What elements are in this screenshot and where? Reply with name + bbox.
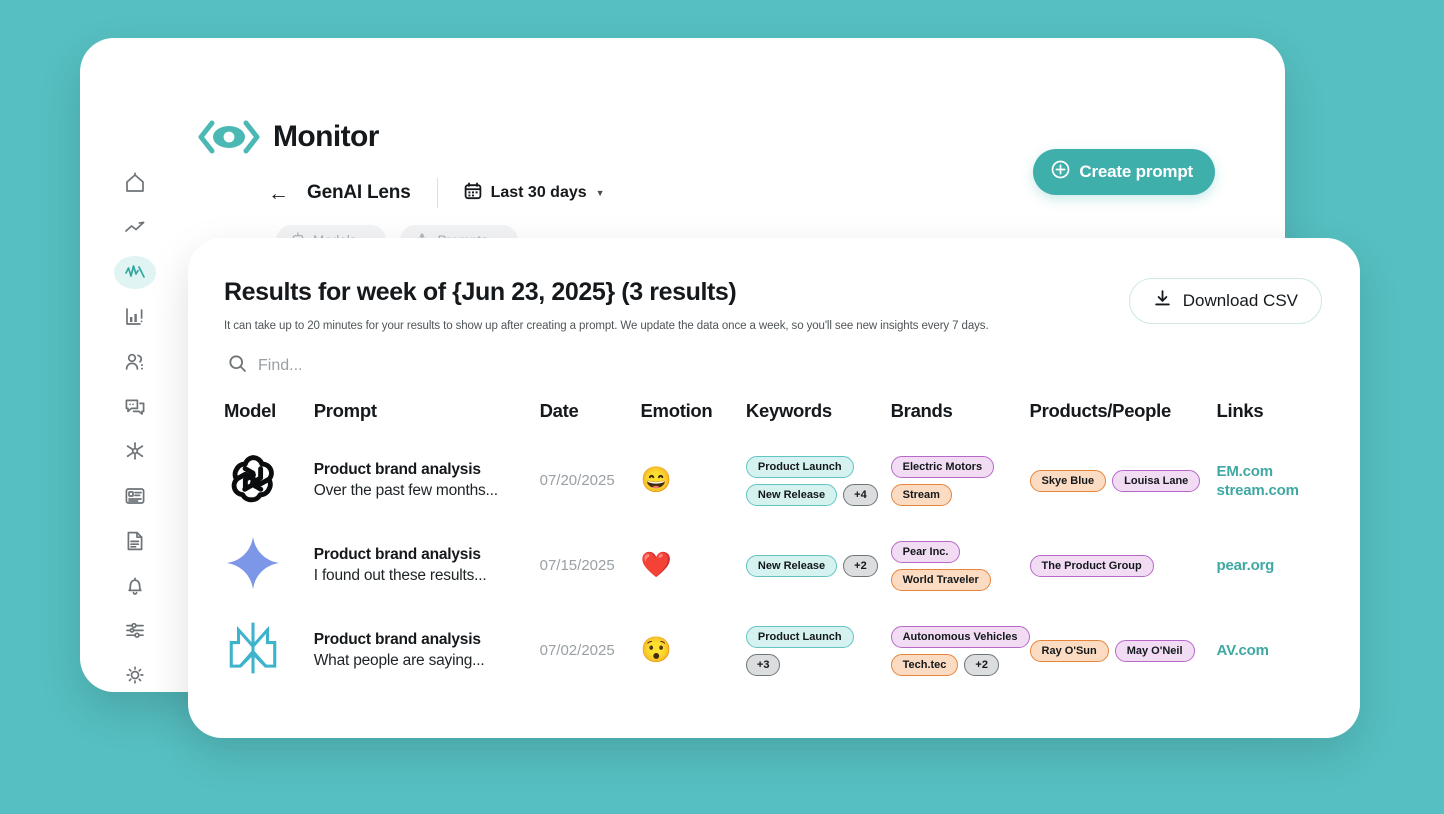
- brand-name: Monitor: [273, 120, 379, 154]
- brands-tag[interactable]: Autonomous Vehicles: [891, 626, 1030, 648]
- date-range-picker[interactable]: Last 30 days ▼: [464, 182, 605, 205]
- brands-tags: Pear Inc.World Traveler: [891, 541, 1030, 591]
- column-header-date: Date: [540, 392, 641, 438]
- plus-circle-icon: [1051, 160, 1070, 184]
- grinning-face-emoji: 😄: [641, 466, 672, 494]
- column-header-products-people: Products/People: [1030, 392, 1217, 438]
- more-count-chip[interactable]: +2: [964, 654, 999, 676]
- prompt-cell: Product brand analysisOver the past few …: [314, 438, 540, 523]
- results-subtitle: It can take up to 20 minutes for your re…: [224, 320, 989, 332]
- date-cell: 07/15/2025: [540, 523, 641, 608]
- model-cell: [224, 608, 314, 693]
- brands-tags: Autonomous VehiclesTech.tec+2: [891, 626, 1030, 676]
- sidebar-item-settings-sliders[interactable]: [114, 614, 156, 648]
- products-tag[interactable]: Skye Blue: [1030, 470, 1107, 492]
- column-header-links: Links: [1217, 392, 1322, 438]
- back-arrow-icon[interactable]: ←: [268, 183, 289, 204]
- keywords-cell: Product Launch+3: [746, 608, 891, 693]
- sidebar-item-audience[interactable]: [114, 345, 156, 379]
- column-header-model: Model: [224, 392, 314, 438]
- products-tag[interactable]: Ray O'Sun: [1030, 640, 1109, 662]
- keywords-tags: Product Launch+3: [746, 626, 891, 676]
- prompt-snippet: What people are saying...: [314, 652, 540, 670]
- prompt-snippet: I found out these results...: [314, 567, 540, 585]
- results-header: Results for week of {Jun 23, 2025} (3 re…: [224, 278, 1322, 332]
- emotion-cell: 😄: [641, 438, 746, 523]
- date-cell: 07/02/2025: [540, 608, 641, 693]
- prompt-cell: Product brand analysisWhat people are sa…: [314, 608, 540, 693]
- download-csv-button[interactable]: Download CSV: [1129, 278, 1322, 324]
- red-heart-emoji: ❤️: [641, 551, 672, 579]
- products-tags: Skye BlueLouisa Lane: [1030, 470, 1217, 492]
- products-tags: The Product Group: [1030, 555, 1217, 577]
- table-row[interactable]: Product brand analysisWhat people are sa…: [224, 608, 1322, 693]
- brands-tag[interactable]: Tech.tec: [891, 654, 959, 676]
- sidebar-item-reports[interactable]: [114, 300, 156, 334]
- prompt-title: Product brand analysis: [314, 546, 540, 564]
- keywords-tag[interactable]: Product Launch: [746, 456, 854, 478]
- sidebar-item-network[interactable]: [114, 435, 156, 469]
- screen: Monitor ← GenAI Lens: [0, 0, 1444, 814]
- people-icon: [123, 350, 147, 374]
- keywords-tags: New Release+2: [746, 555, 891, 577]
- brands-tag[interactable]: Stream: [891, 484, 952, 506]
- page-title: Results for week of {Jun 23, 2025} (3 re…: [224, 278, 989, 307]
- links-cell: AV.com: [1217, 608, 1322, 693]
- sidebar-item-cards[interactable]: [114, 479, 156, 513]
- keywords-cell: Product LaunchNew Release+4: [746, 438, 891, 523]
- table-row[interactable]: Product brand analysisOver the past few …: [224, 438, 1322, 523]
- document-icon: [123, 529, 147, 553]
- links-cell: EM.comstream.com: [1217, 438, 1322, 523]
- divider: [437, 178, 438, 208]
- emotion-cell: ❤️: [641, 523, 746, 608]
- calendar-icon: [464, 182, 482, 205]
- create-prompt-label: Create prompt: [1079, 162, 1193, 182]
- sidebar-item-documents[interactable]: [114, 524, 156, 558]
- products-tag[interactable]: The Product Group: [1030, 555, 1154, 577]
- sidebar: [80, 38, 190, 692]
- date-range-label: Last 30 days: [491, 184, 587, 202]
- sidebar-item-preferences[interactable]: [114, 658, 156, 692]
- create-prompt-button[interactable]: Create prompt: [1033, 149, 1215, 195]
- brand: Monitor: [198, 120, 379, 154]
- products-tag[interactable]: Louisa Lane: [1112, 470, 1200, 492]
- prompt-title: Product brand analysis: [314, 631, 540, 649]
- download-icon: [1153, 289, 1172, 313]
- products-cell: Skye BlueLouisa Lane: [1030, 438, 1217, 523]
- table-header-row: ModelPromptDateEmotionKeywordsBrandsProd…: [224, 392, 1322, 438]
- keywords-tag[interactable]: New Release: [746, 555, 837, 577]
- model-cell: [224, 523, 314, 608]
- date-cell: 07/20/2025: [540, 438, 641, 523]
- download-csv-label: Download CSV: [1183, 291, 1298, 311]
- prompt-snippet: Over the past few months...: [314, 482, 540, 500]
- sidebar-item-monitor[interactable]: [114, 256, 156, 290]
- column-header-prompt: Prompt: [314, 392, 540, 438]
- brands-cell: Pear Inc.World Traveler: [891, 523, 1030, 608]
- column-header-keywords: Keywords: [746, 392, 891, 438]
- sidebar-item-trends[interactable]: [114, 211, 156, 245]
- search-icon: [228, 354, 247, 378]
- more-count-chip[interactable]: +2: [843, 555, 878, 577]
- emotion-cell: 😯: [641, 608, 746, 693]
- products-cell: The Product Group: [1030, 523, 1217, 608]
- products-tags: Ray O'SunMay O'Neil: [1030, 640, 1217, 662]
- column-header-brands: Brands: [891, 392, 1030, 438]
- brands-tag[interactable]: Pear Inc.: [891, 541, 961, 563]
- perplexity-logo-icon: [224, 619, 282, 677]
- eye-logo-icon: [198, 120, 260, 154]
- sidebar-item-conversations[interactable]: [114, 390, 156, 424]
- result-link[interactable]: stream.com: [1217, 482, 1322, 499]
- prompt-cell: Product brand analysisI found out these …: [314, 523, 540, 608]
- result-link[interactable]: pear.org: [1217, 557, 1322, 574]
- products-cell: Ray O'SunMay O'Neil: [1030, 608, 1217, 693]
- sidebar-item-alerts[interactable]: [114, 569, 156, 603]
- bar-chart-icon: [123, 305, 147, 329]
- keywords-tag[interactable]: New Release: [746, 484, 837, 506]
- keywords-tag[interactable]: Product Launch: [746, 626, 854, 648]
- home-icon: [123, 171, 147, 195]
- keywords-cell: New Release+2: [746, 523, 891, 608]
- chevron-down-icon: ▼: [596, 188, 605, 198]
- sidebar-item-home[interactable]: [114, 166, 156, 200]
- model-cell: [224, 438, 314, 523]
- list-card-icon: [123, 484, 147, 508]
- brands-tag[interactable]: Electric Motors: [891, 456, 994, 478]
- prompt-title: Product brand analysis: [314, 461, 540, 479]
- table-row[interactable]: Product brand analysisI found out these …: [224, 523, 1322, 608]
- products-tag[interactable]: May O'Neil: [1115, 640, 1195, 662]
- network-hub-icon: [123, 439, 147, 463]
- gemini-star-icon: [224, 534, 282, 592]
- activity-pulse-icon: [123, 260, 147, 284]
- brands-cell: Electric MotorsStream: [891, 438, 1030, 523]
- gear-icon: [123, 663, 147, 687]
- column-header-emotion: Emotion: [641, 392, 746, 438]
- brands-tag[interactable]: World Traveler: [891, 569, 991, 591]
- results-table: ModelPromptDateEmotionKeywordsBrandsProd…: [224, 392, 1322, 693]
- search-row: [224, 354, 1322, 378]
- result-link[interactable]: EM.com: [1217, 463, 1322, 480]
- search-input[interactable]: [258, 357, 518, 375]
- toolbar: ← GenAI Lens La: [268, 178, 605, 208]
- results-card: Results for week of {Jun 23, 2025} (3 re…: [188, 238, 1360, 738]
- links-cell: pear.org: [1217, 523, 1322, 608]
- more-count-chip[interactable]: +3: [746, 654, 781, 676]
- result-link[interactable]: AV.com: [1217, 642, 1322, 659]
- hushed-face-emoji: 😯: [641, 636, 672, 664]
- openai-logo-icon: [224, 449, 282, 507]
- brands-cell: Autonomous VehiclesTech.tec+2: [891, 608, 1030, 693]
- brands-tags: Electric MotorsStream: [891, 456, 1030, 506]
- trend-line-icon: [123, 216, 147, 240]
- breadcrumb[interactable]: GenAI Lens: [307, 182, 411, 204]
- sliders-icon: [123, 618, 147, 642]
- keywords-tags: Product LaunchNew Release+4: [746, 456, 891, 506]
- chat-bubbles-icon: [123, 395, 147, 419]
- table-body: Product brand analysisOver the past few …: [224, 438, 1322, 693]
- bell-icon: [123, 574, 147, 598]
- more-count-chip[interactable]: +4: [843, 484, 878, 506]
